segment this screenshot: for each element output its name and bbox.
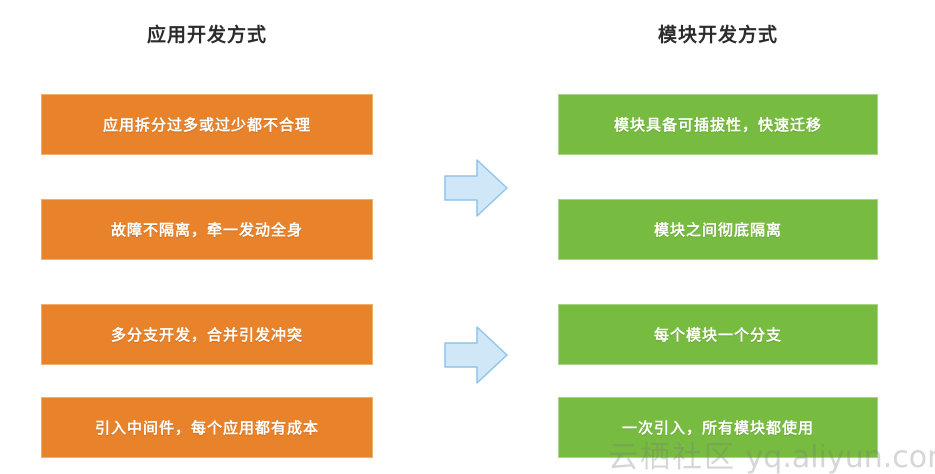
comparison-diagram: 应用开发方式 模块开发方式 应用拆分过多或过少都不合理 故障不隔离，牵一发动全身… xyxy=(0,0,935,474)
left-item-box: 多分支开发，合并引发冲突 xyxy=(41,304,373,365)
left-item-box: 应用拆分过多或过少都不合理 xyxy=(41,94,373,155)
right-item-box: 一次引入，所有模块都使用 xyxy=(558,397,878,458)
right-block-arrow-icon xyxy=(443,325,509,385)
left-column-title: 应用开发方式 xyxy=(41,20,373,47)
right-item-box: 模块之间彻底隔离 xyxy=(558,199,878,260)
left-item-box: 故障不隔离，牵一发动全身 xyxy=(41,199,373,260)
right-item-box: 模块具备可插拔性，快速迁移 xyxy=(558,94,878,155)
left-item-box: 引入中间件，每个应用都有成本 xyxy=(41,397,373,458)
right-block-arrow-icon xyxy=(443,158,509,218)
right-column-title: 模块开发方式 xyxy=(558,20,878,47)
right-item-box: 每个模块一个分支 xyxy=(558,304,878,365)
